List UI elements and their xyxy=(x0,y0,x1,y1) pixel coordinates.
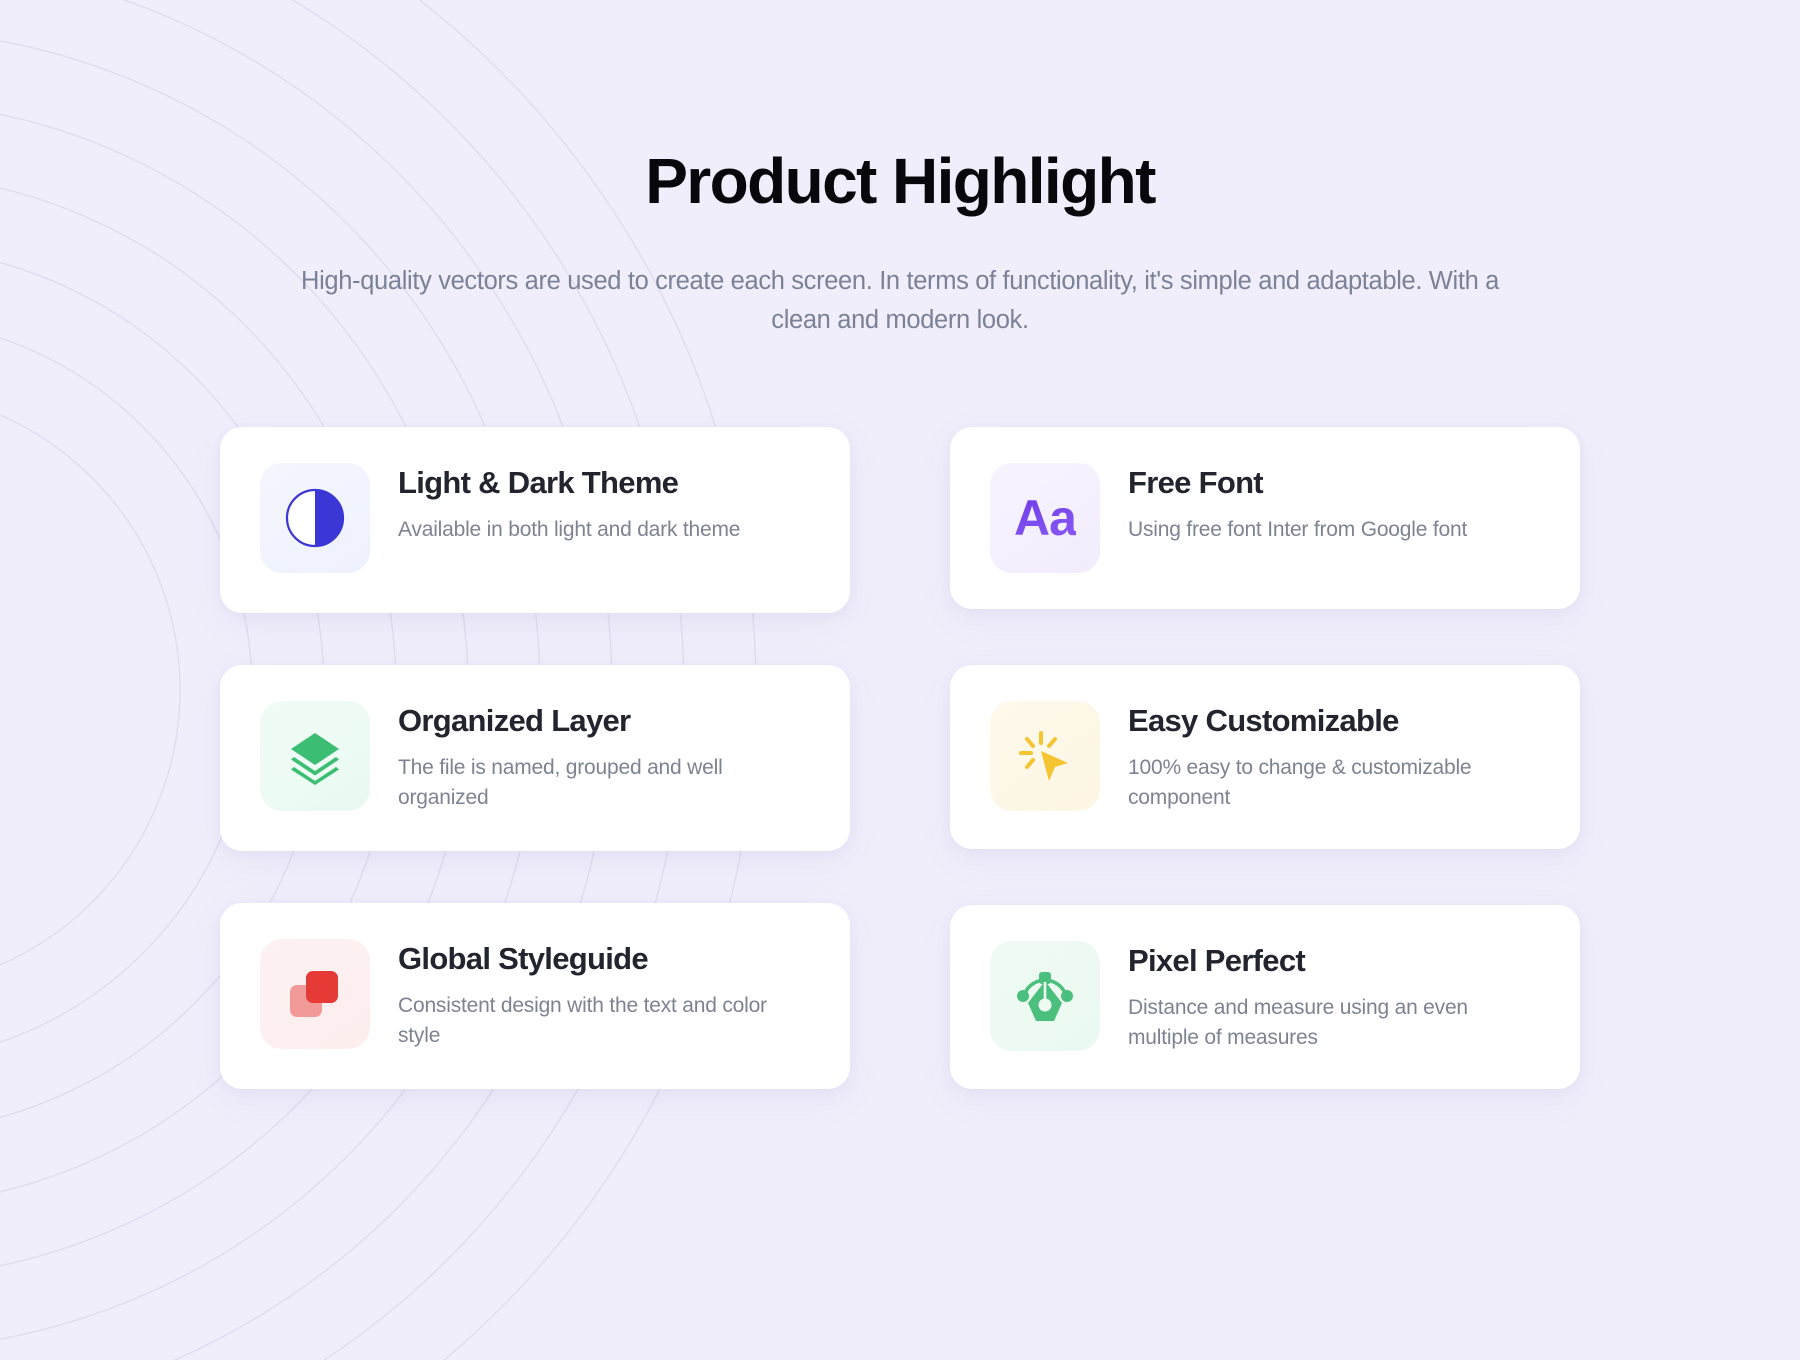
feature-column-right: Aa Free Font Using free font Inter from … xyxy=(950,427,1580,1145)
pen-tool-icon xyxy=(1014,965,1076,1027)
header-section: Product Highlight High-quality vectors a… xyxy=(0,146,1800,341)
feature-card-free-font[interactable]: Aa Free Font Using free font Inter from … xyxy=(950,427,1580,609)
card-description: Available in both light and dark theme xyxy=(398,515,798,545)
card-text-block: Pixel Perfect Distance and measure using… xyxy=(1128,941,1546,1053)
aa-typography-icon-tile: Aa xyxy=(990,463,1100,573)
card-title: Free Font xyxy=(1128,465,1546,502)
card-text-block: Free Font Using free font Inter from Goo… xyxy=(1128,463,1546,545)
card-text-block: Organized Layer The file is named, group… xyxy=(398,701,816,813)
aa-typography-icon: Aa xyxy=(1014,489,1076,547)
page-subtitle: High-quality vectors are used to create … xyxy=(300,262,1500,341)
feature-card-pixel-perfect[interactable]: Pixel Perfect Distance and measure using… xyxy=(950,905,1580,1089)
feature-column-left: Light & Dark Theme Available in both lig… xyxy=(220,427,850,1145)
half-circle-icon xyxy=(284,487,346,549)
sparkle-cursor-icon-tile xyxy=(990,701,1100,811)
card-text-block: Light & Dark Theme Available in both lig… xyxy=(398,463,816,545)
feature-card-global-styleguide[interactable]: Global Styleguide Consistent design with… xyxy=(220,903,850,1089)
card-title: Global Styleguide xyxy=(398,941,816,978)
card-title: Pixel Perfect xyxy=(1128,943,1546,980)
card-description: The file is named, grouped and well orga… xyxy=(398,753,798,813)
overlapping-squares-icon xyxy=(284,963,346,1025)
card-text-block: Easy Customizable 100% easy to change & … xyxy=(1128,701,1546,813)
feature-card-grid: Light & Dark Theme Available in both lig… xyxy=(220,427,1580,1145)
feature-card-easy-customizable[interactable]: Easy Customizable 100% easy to change & … xyxy=(950,665,1580,849)
card-description: Using free font Inter from Google font xyxy=(1128,515,1528,545)
card-description: Consistent design with the text and colo… xyxy=(398,991,798,1051)
card-title: Organized Layer xyxy=(398,703,816,740)
card-title: Easy Customizable xyxy=(1128,703,1546,740)
feature-card-organized-layer[interactable]: Organized Layer The file is named, group… xyxy=(220,665,850,851)
product-highlight-page: Product Highlight High-quality vectors a… xyxy=(0,0,1800,1360)
card-description: 100% easy to change & customizable compo… xyxy=(1128,753,1528,813)
page-title: Product Highlight xyxy=(0,146,1800,218)
layers-icon xyxy=(284,725,346,787)
half-circle-icon-tile xyxy=(260,463,370,573)
card-text-block: Global Styleguide Consistent design with… xyxy=(398,939,816,1051)
card-title: Light & Dark Theme xyxy=(398,465,816,502)
feature-card-light-dark-theme[interactable]: Light & Dark Theme Available in both lig… xyxy=(220,427,850,613)
layers-icon-tile xyxy=(260,701,370,811)
pen-tool-icon-tile xyxy=(990,941,1100,1051)
card-description: Distance and measure using an even multi… xyxy=(1128,993,1528,1053)
sparkle-cursor-icon xyxy=(1014,725,1076,787)
overlapping-squares-icon-tile xyxy=(260,939,370,1049)
